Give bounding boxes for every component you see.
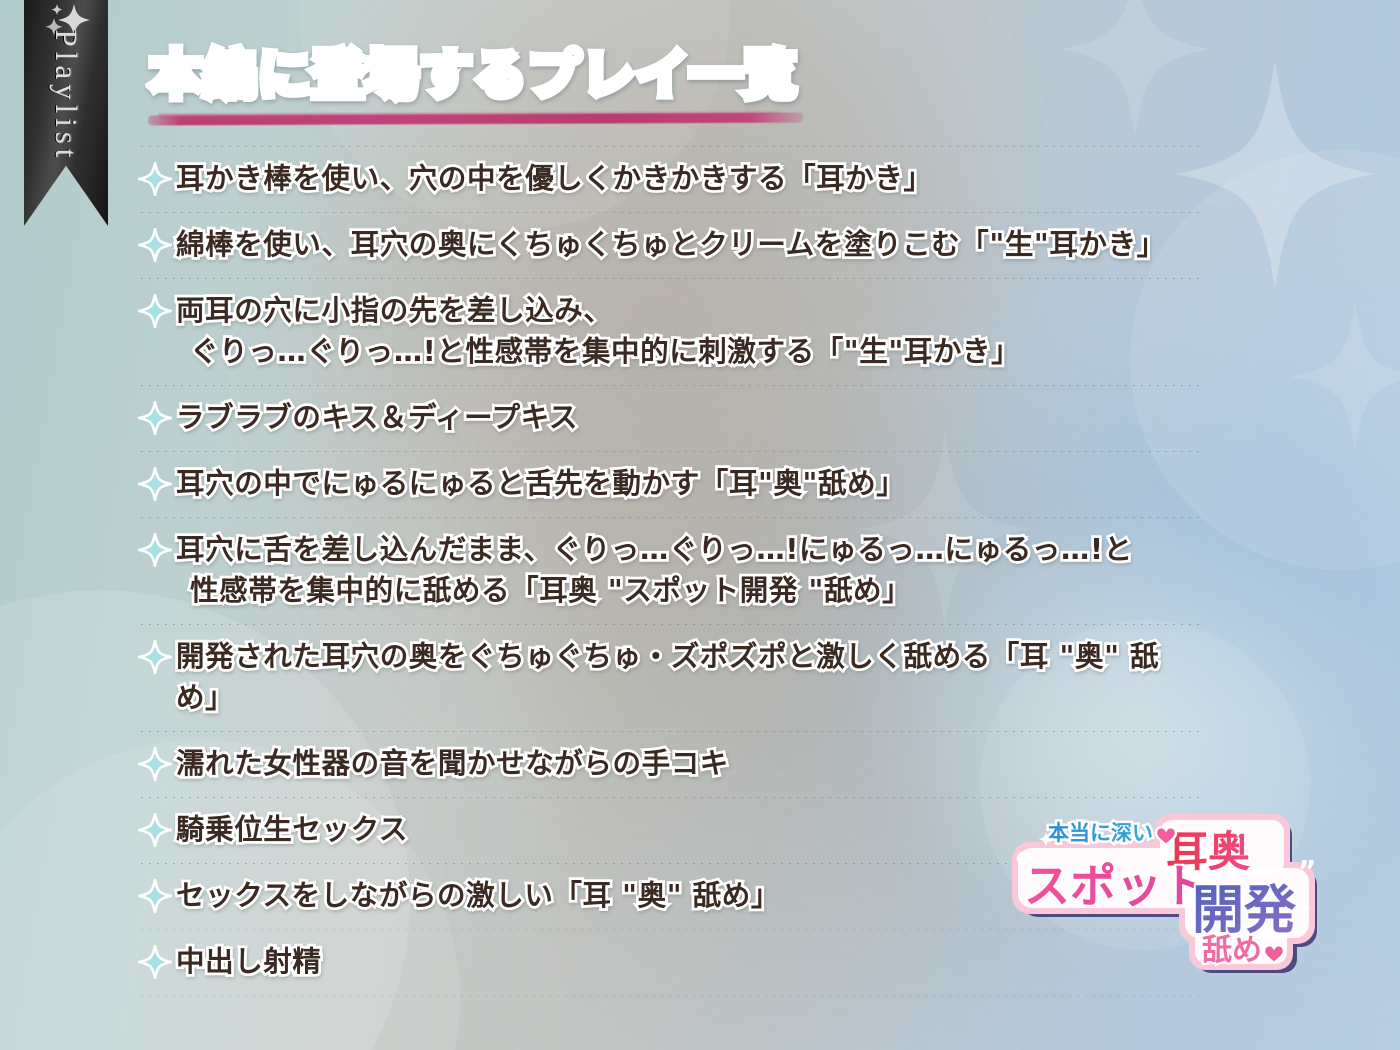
list-item-line1: ラブラブのキス＆ディープキス bbox=[176, 401, 578, 434]
list-item-label: 耳かき棒を使い、穴の中を優しくかきかきする「耳かき」 bbox=[176, 158, 933, 199]
diamond-sparkle-icon bbox=[138, 533, 172, 567]
list-item-line1: 中出し射精 bbox=[176, 945, 322, 978]
logo-word-spot: スポット bbox=[1024, 859, 1208, 913]
list-item-label: 騎乗位生セックス bbox=[176, 809, 408, 850]
list-item-line1: 騎乗位生セックス bbox=[176, 813, 408, 846]
sparkle-icon bbox=[1060, 0, 1210, 140]
list-separator bbox=[138, 278, 1200, 279]
list-item-label: 開発された耳穴の奥をぐちゅぐちゅ・ズポズポと激しく舐める「耳 "奥" 舐め」 bbox=[176, 636, 1200, 718]
diamond-sparkle-icon bbox=[138, 945, 172, 979]
list-item-line2: 性感帯を集中的に舐める「耳奥 "スポット開発 "舐め」 bbox=[190, 570, 1133, 611]
diamond-sparkle-icon bbox=[138, 640, 172, 674]
list-item-label: ラブラブのキス＆ディープキス bbox=[176, 397, 578, 438]
list-item-label: 耳穴に舌を差し込んだまま、ぐりっ…ぐりっ…!にゅるっ…にゅるっ…!と性感帯を集中… bbox=[176, 529, 1133, 611]
product-logo: 本当に深い 耳奥 スポット 開発 舐め “ ” bbox=[1006, 808, 1356, 993]
list-item-label: 両耳の穴に小指の先を差し込み、ぐりっ…ぐりっ…!と性感帯を集中的に刺激する「"生… bbox=[176, 290, 1020, 372]
list-item[interactable]: 両耳の穴に小指の先を差し込み、ぐりっ…ぐりっ…!と性感帯を集中的に刺激する「"生… bbox=[138, 279, 1200, 385]
playlist-page: Playlist 本編に登場するプレイ一覧 耳かき棒を使い、穴の中を優しくかきか… bbox=[0, 0, 1400, 1050]
diamond-sparkle-icon bbox=[138, 879, 172, 913]
diamond-sparkle-icon bbox=[138, 401, 172, 435]
list-separator bbox=[138, 451, 1200, 452]
diamond-sparkle-icon bbox=[138, 228, 172, 262]
list-item-label: 中出し射精 bbox=[176, 941, 322, 982]
list-item-line1: 耳穴に舌を差し込んだまま、ぐりっ…ぐりっ…!にゅるっ…にゅるっ…!と bbox=[176, 533, 1133, 566]
diamond-sparkle-icon bbox=[138, 747, 172, 781]
diamond-sparkle-icon bbox=[138, 467, 172, 501]
page-title-block: 本編に登場するプレイ一覧 bbox=[150, 50, 798, 102]
list-item[interactable]: 綿棒を使い、耳穴の奥にくちゅくちゅとクリームを塗りこむ「"生"耳かき」 bbox=[138, 213, 1200, 278]
list-item[interactable]: 耳かき棒を使い、穴の中を優しくかきかきする「耳かき」 bbox=[138, 147, 1200, 212]
list-separator bbox=[138, 797, 1200, 798]
logo-word-lick: 舐め bbox=[1202, 933, 1262, 968]
diamond-sparkle-icon bbox=[138, 294, 172, 328]
logo-top-line: 本当に深い bbox=[1048, 821, 1153, 845]
list-separator bbox=[138, 385, 1200, 386]
list-separator bbox=[138, 212, 1200, 213]
list-separator bbox=[138, 995, 1200, 996]
list-item-line2: ぐりっ…ぐりっ…!と性感帯を集中的に刺激する「"生"耳かき」 bbox=[190, 331, 1020, 372]
list-item[interactable]: 耳穴に舌を差し込んだまま、ぐりっ…ぐりっ…!にゅるっ…にゅるっ…!と性感帯を集中… bbox=[138, 518, 1200, 624]
list-separator bbox=[138, 731, 1200, 732]
list-item-label: セックスをしながらの激しい「耳 "奥" 舐め」 bbox=[176, 875, 780, 916]
diamond-sparkle-icon bbox=[138, 162, 172, 196]
diamond-sparkle-icon bbox=[138, 813, 172, 847]
list-item[interactable]: 耳穴の中でにゅるにゅると舌先を動かす「耳"奥"舐め」 bbox=[138, 452, 1200, 517]
list-separator bbox=[138, 624, 1200, 625]
ribbon-label: Playlist bbox=[48, 0, 84, 194]
list-item[interactable]: 濡れた女性器の音を聞かせながらの手コキ bbox=[138, 732, 1200, 797]
sparkle-icon bbox=[1290, 300, 1400, 455]
list-item[interactable]: 開発された耳穴の奥をぐちゅぐちゅ・ズポズポと激しく舐める「耳 "奥" 舐め」 bbox=[138, 625, 1200, 731]
logo-quote-close: ” bbox=[1298, 854, 1316, 887]
list-item-line1: 濡れた女性器の音を聞かせながらの手コキ bbox=[176, 747, 729, 780]
list-item-label: 濡れた女性器の音を聞かせながらの手コキ bbox=[176, 743, 729, 784]
list-item-line1: セックスをしながらの激しい「耳 "奥" 舐め」 bbox=[176, 879, 780, 912]
list-item-line1: 綿棒を使い、耳穴の奥にくちゅくちゅとクリームを塗りこむ「"生"耳かき」 bbox=[176, 228, 1166, 261]
list-separator bbox=[138, 146, 1200, 147]
list-separator bbox=[138, 517, 1200, 518]
list-item-line1: 耳穴の中でにゅるにゅると舌先を動かす「耳"奥"舐め」 bbox=[176, 467, 905, 500]
list-item-line1: 開発された耳穴の奥をぐちゅぐちゅ・ズポズポと激しく舐める「耳 "奥" 舐め」 bbox=[176, 640, 1159, 714]
list-item[interactable]: ラブラブのキス＆ディープキス bbox=[138, 386, 1200, 451]
list-item-line1: 耳かき棒を使い、穴の中を優しくかきかきする「耳かき」 bbox=[176, 162, 933, 195]
list-item-label: 耳穴の中でにゅるにゅると舌先を動かす「耳"奥"舐め」 bbox=[176, 463, 905, 504]
list-item-line1: 両耳の穴に小指の先を差し込み、 bbox=[176, 294, 613, 327]
logo-word-develop: 開発 bbox=[1192, 881, 1297, 941]
page-title: 本編に登場するプレイ一覧 bbox=[150, 50, 798, 102]
list-item-label: 綿棒を使い、耳穴の奥にくちゅくちゅとクリームを塗りこむ「"生"耳かき」 bbox=[176, 224, 1166, 265]
logo-quote-open: “ bbox=[1014, 846, 1032, 879]
